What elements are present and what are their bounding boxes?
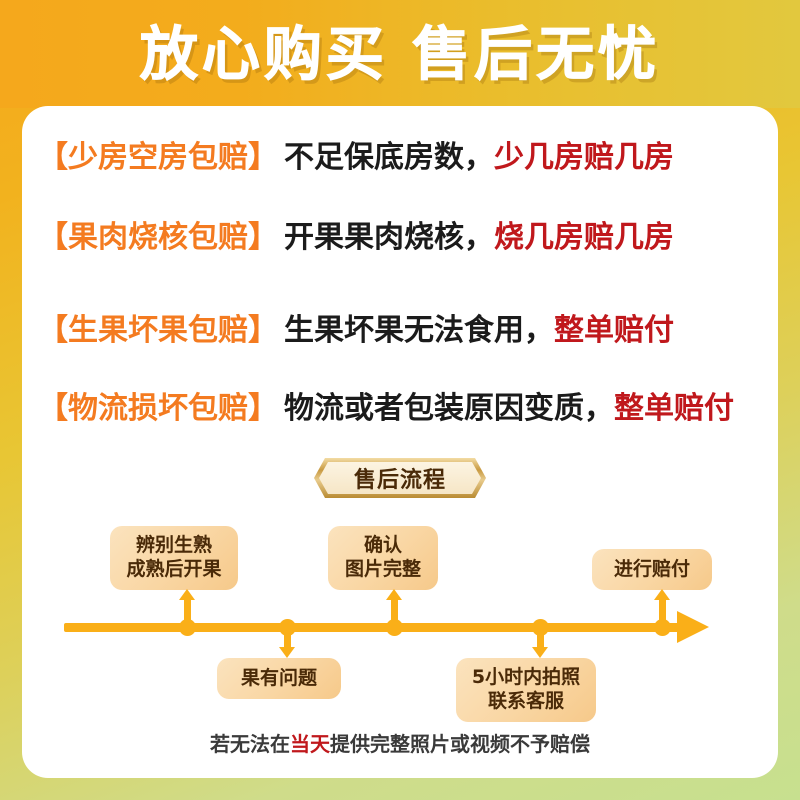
guarantee-tag: 【果肉烧核包赔】 bbox=[38, 223, 278, 253]
timeline-connector bbox=[537, 633, 544, 648]
guarantee-highlight: 整单赔付 bbox=[554, 316, 674, 346]
footnote: 若无法在当天提供完整照片或视频不予赔偿 bbox=[22, 728, 778, 757]
guarantee-tag: 【少房空房包赔】 bbox=[38, 143, 278, 173]
guarantee-body: 不足保底房数， bbox=[284, 143, 494, 173]
timeline-connector bbox=[659, 599, 666, 623]
footnote-highlight: 当天 bbox=[290, 732, 330, 756]
guarantee-row: 【少房空房包赔】 不足保底房数， 少几房赔几房 bbox=[38, 136, 762, 180]
promo-page: 放心购买 售后无忧 【少房空房包赔】 不足保底房数， 少几房赔几房 【果肉烧核包… bbox=[0, 0, 800, 800]
guarantee-highlight: 整单赔付 bbox=[614, 394, 734, 424]
timeline-step-box-above: 确认 图片完整 bbox=[328, 526, 438, 590]
guarantee-tag: 【物流损坏包赔】 bbox=[38, 394, 278, 424]
timeline-arrow-up-icon bbox=[179, 589, 195, 600]
timeline-arrow-up-icon bbox=[654, 589, 670, 600]
timeline-step-box-above: 进行赔付 bbox=[592, 549, 712, 590]
timeline-step-box-below: 5小时内拍照 联系客服 bbox=[456, 658, 596, 722]
guarantee-body: 生果坏果无法食用， bbox=[284, 316, 554, 346]
timeline-arrow-up-icon bbox=[386, 589, 402, 600]
timeline-axis bbox=[64, 623, 684, 632]
content-card: 【少房空房包赔】 不足保底房数， 少几房赔几房 【果肉烧核包赔】 开果果肉烧核，… bbox=[22, 106, 778, 778]
timeline-connector bbox=[391, 599, 398, 623]
process-badge: 售后流程 bbox=[314, 458, 486, 498]
process-timeline: 辨别生熟 成熟后开果确认 图片完整进行赔付果有问题5小时内拍照 联系客服 bbox=[22, 506, 778, 716]
guarantee-row: 【物流损坏包赔】 物流或者包装原因变质， 整单赔付 bbox=[38, 387, 762, 431]
timeline-step-box-above: 辨别生熟 成熟后开果 bbox=[110, 526, 238, 590]
page-title: 放心购买 售后无忧 bbox=[140, 25, 660, 83]
guarantee-row: 【果肉烧核包赔】 开果果肉烧核， 烧几房赔几房 bbox=[38, 216, 762, 260]
guarantee-tag: 【生果坏果包赔】 bbox=[38, 316, 278, 346]
guarantee-highlight: 烧几房赔几房 bbox=[494, 223, 674, 253]
header-banner: 放心购买 售后无忧 bbox=[0, 0, 800, 108]
timeline-connector bbox=[184, 599, 191, 623]
timeline-arrow-icon bbox=[677, 611, 709, 643]
footnote-pre: 若无法在 bbox=[210, 732, 290, 756]
guarantee-body: 开果果肉烧核， bbox=[284, 223, 494, 253]
footnote-post: 提供完整照片或视频不予赔偿 bbox=[330, 732, 590, 756]
guarantee-row: 【生果坏果包赔】 生果坏果无法食用， 整单赔付 bbox=[38, 309, 762, 353]
process-badge-label: 售后流程 bbox=[354, 462, 446, 494]
process-badge-container: 售后流程 bbox=[22, 458, 778, 498]
timeline-arrow-down-icon bbox=[279, 647, 295, 658]
guarantee-body: 物流或者包装原因变质， bbox=[284, 394, 614, 424]
guarantee-highlight: 少几房赔几房 bbox=[494, 143, 674, 173]
timeline-arrow-down-icon bbox=[532, 647, 548, 658]
timeline-connector bbox=[284, 633, 291, 648]
timeline-step-box-below: 果有问题 bbox=[217, 658, 341, 699]
